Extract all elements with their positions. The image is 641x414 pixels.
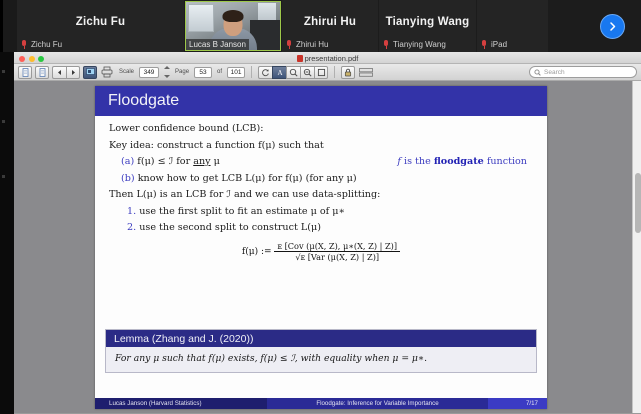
mic-muted-icon — [383, 40, 390, 49]
pdf-page: Floodgate Lower confidence bound (LCB): … — [95, 86, 547, 409]
window-title-text: presentation.pdf — [305, 54, 359, 63]
equation-fraction: ᴇ [Cov (μ(X, Z), μ∗(X, Z) | Z)] √ᴇ [Var … — [274, 242, 400, 261]
equation-radicand: ᴇ [Var (μ(X, Z) | Z)] — [301, 252, 380, 262]
print-button[interactable] — [100, 66, 114, 79]
svg-text:A: A — [277, 69, 282, 77]
window-titlebar[interactable]: presentation.pdf — [14, 52, 641, 64]
fit-page-icon[interactable] — [314, 66, 328, 79]
search-input[interactable]: Search — [529, 66, 637, 78]
participant-name-tag: Zhirui Hu — [296, 40, 328, 49]
page-input[interactable]: 53 — [194, 67, 212, 78]
mic-muted-icon — [481, 40, 488, 49]
participant-tile-lucas-b-janson-video[interactable]: Lucas B Janson — [185, 1, 281, 51]
page-nav-group[interactable] — [52, 66, 80, 79]
prev-page-button[interactable] — [52, 66, 66, 79]
slide-step-2: 2. use the second split to construct L(μ… — [109, 223, 533, 233]
zoom-in-icon[interactable] — [286, 66, 300, 79]
side-note-post: function — [484, 156, 527, 167]
lemma-block: Lemma (Zhang and J. (2020)) For any μ su… — [105, 329, 537, 373]
participant-tile-tianying-wang[interactable]: Tianying Wang Tianying Wang — [379, 0, 476, 52]
step-2-text: use the second split to construct L(μ) — [139, 222, 321, 233]
toolbar-divider-2 — [334, 66, 335, 78]
two-up-view-icon[interactable] — [358, 66, 374, 79]
floodgate-side-note: f is the floodgate function — [397, 157, 527, 167]
view-tools-group[interactable]: A — [258, 66, 328, 79]
item-a-text-2: μ — [211, 156, 220, 167]
equation-lhs: f(μ) := — [242, 248, 272, 258]
participant-name-tag: Lucas B Janson — [186, 39, 249, 50]
lemma-heading: Lemma (Zhang and J. (2020)) — [106, 330, 536, 347]
footer-talk-title: Floodgate: Inference for Variable Import… — [267, 398, 489, 409]
slide-title: Floodgate — [95, 86, 547, 116]
pdf-document-viewport[interactable]: Floodgate Lower confidence bound (LCB): … — [14, 81, 641, 414]
item-b-marker: (b) — [121, 173, 135, 184]
slide-footer: Lucas Janson (Harvard Statistics) Floodg… — [95, 398, 547, 409]
slide-line-key-idea: Key idea: construct a function f(μ) such… — [109, 141, 533, 151]
search-icon — [534, 69, 541, 76]
participant-name-tag: Tianying Wang — [393, 40, 446, 49]
lemma-body: For any μ such that f(μ) exists, f(μ) ≤ … — [106, 347, 536, 372]
scale-stepper[interactable] — [163, 66, 170, 78]
item-a-marker: (a) — [121, 156, 134, 167]
participant-tile-zhirui-hu[interactable]: Zhirui Hu Zhirui Hu — [282, 0, 378, 52]
participant-display-name: Zichu Fu — [17, 16, 184, 28]
page-total-display: 101 — [227, 67, 245, 78]
toolbar-divider — [251, 66, 252, 78]
participant-tile-zichu-fu[interactable]: Zichu Fu Zichu Fu — [17, 0, 184, 52]
slide-line-then: Then L(μ) is an LCB for ℐ and we can use… — [109, 190, 533, 200]
slide-body: Lower confidence bound (LCB): Key idea: … — [109, 124, 533, 272]
pdf-file-icon — [297, 55, 303, 62]
participant-name-tag: iPad — [491, 40, 507, 49]
participant-name-tag: Zichu Fu — [31, 40, 62, 49]
presentation-mode-button[interactable] — [83, 66, 97, 79]
footer-page-number: 7/17 — [488, 398, 547, 409]
pdf-viewer-window: presentation.pdf Scale 349 Page 53 of — [14, 52, 641, 414]
footer-author: Lucas Janson (Harvard Statistics) — [95, 398, 267, 409]
lock-icon[interactable] — [341, 66, 355, 79]
window-title: presentation.pdf — [14, 53, 641, 64]
search-placeholder: Search — [544, 69, 565, 76]
mic-muted-icon — [21, 40, 28, 49]
equation-numerator: ᴇ [Cov (μ(X, Z), μ∗(X, Z) | Z)] — [274, 242, 400, 251]
next-page-button[interactable] — [66, 66, 80, 79]
participant-namebar: Zhirui Hu — [286, 40, 328, 49]
item-b-text: know how to get LCB L(μ) for f(μ) (for a… — [138, 173, 357, 184]
participant-namebar: Tianying Wang — [383, 40, 446, 49]
participant-display-name: Zhirui Hu — [282, 16, 378, 28]
of-label: of — [217, 69, 222, 75]
next-participants-arrow-icon[interactable] — [600, 14, 625, 39]
pdf-toolbar[interactable]: Scale 349 Page 53 of 101 A — [14, 64, 641, 81]
side-note-bold: floodgate — [434, 156, 484, 167]
floodgate-equation: f(μ) := ᴇ [Cov (μ(X, Z), μ∗(X, Z) | Z)] … — [109, 242, 533, 261]
video-person-hair — [223, 10, 244, 22]
last-page-button[interactable] — [35, 66, 49, 79]
step-1-text: use the first split to fit an estimate μ… — [139, 206, 345, 217]
slide-step-1: 1. use the first split to fit an estimat… — [109, 207, 533, 217]
slide-item-b: (b) know how to get LCB L(μ) for f(μ) (f… — [109, 174, 533, 184]
step-1-marker: 1. — [127, 206, 136, 217]
step-2-marker: 2. — [127, 222, 136, 233]
participant-display-name: Tianying Wang — [379, 16, 476, 28]
side-note-mid: is the — [401, 156, 434, 167]
desktop-left-rail — [0, 0, 14, 414]
item-a-underlined-word: any — [193, 156, 210, 167]
participant-namebar: iPad — [481, 40, 507, 49]
equation-denominator: √ᴇ [Var (μ(X, Z) | Z)] — [274, 251, 400, 262]
zoom-out-icon[interactable] — [300, 66, 314, 79]
video-window-left — [188, 4, 214, 32]
slide-line-lcb: Lower confidence bound (LCB): — [109, 124, 533, 134]
page-label: Page — [175, 69, 189, 75]
zoom-participant-strip: Zichu Fu Zichu Fu Lucas B Janson Zhirui … — [0, 0, 641, 52]
scale-input[interactable]: 349 — [139, 67, 159, 78]
scrollbar-thumb[interactable] — [635, 173, 641, 233]
rotate-icon[interactable] — [258, 66, 272, 79]
item-a-text-1: f(μ) ≤ ℐ for — [137, 156, 193, 167]
participant-tile-ipad[interactable]: iPad — [477, 0, 548, 52]
vertical-scrollbar[interactable] — [632, 81, 641, 414]
scale-label: Scale — [119, 69, 134, 75]
mic-muted-icon — [286, 40, 293, 49]
text-select-icon[interactable]: A — [272, 66, 286, 79]
slide-item-a: (a) f(μ) ≤ ℐ for any μ f is the floodgat… — [109, 157, 533, 167]
first-page-button[interactable] — [18, 66, 32, 79]
participant-namebar: Zichu Fu — [21, 40, 62, 49]
